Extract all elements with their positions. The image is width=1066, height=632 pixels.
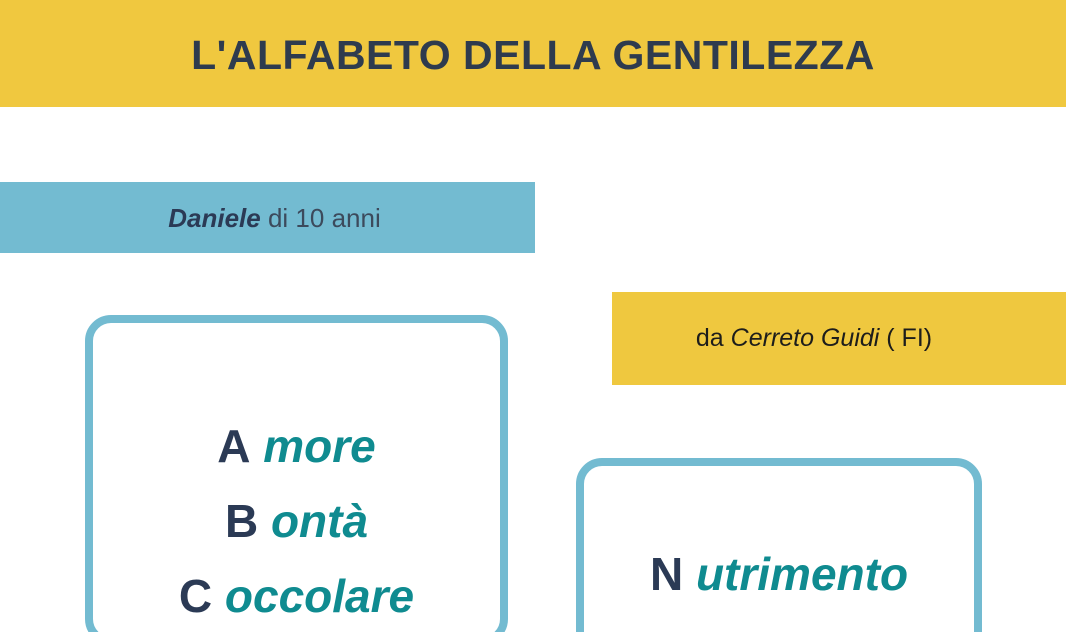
place-text: da Cerreto Guidi ( FI): [696, 326, 982, 351]
place-province: ( FI): [879, 324, 932, 352]
letter-word: utrimento: [683, 548, 908, 600]
letter-list-abc: A more B ontà C occolare: [93, 409, 500, 632]
letter-word: more: [250, 420, 375, 472]
letter-entry: C occolare: [93, 559, 500, 632]
letter-card-n: N utrimento: [576, 458, 982, 632]
letter-initial: C: [179, 570, 212, 622]
place-prefix: da: [696, 324, 731, 352]
header-band: L'ALFABETO DELLA GENTILEZZA: [0, 0, 1066, 107]
author-age: di 10 anni: [261, 203, 381, 233]
letter-card-abc: A more B ontà C occolare: [85, 315, 508, 632]
place-city: Cerreto Guidi: [731, 324, 880, 352]
letter-list-n: N utrimento: [584, 538, 974, 610]
letter-entry: A more: [93, 409, 500, 484]
letter-word: ontà: [258, 495, 368, 547]
letter-initial: A: [217, 420, 250, 472]
letter-entry: B ontà: [93, 484, 500, 559]
place-band: da Cerreto Guidi ( FI): [612, 292, 1066, 385]
author-name: Daniele: [168, 203, 261, 233]
letter-word: occolare: [212, 570, 414, 622]
letter-initial: N: [650, 548, 683, 600]
poster-page: L'ALFABETO DELLA GENTILEZZA Daniele di 1…: [0, 0, 1066, 632]
author-text: Daniele di 10 anni: [154, 205, 380, 231]
letter-initial: B: [225, 495, 258, 547]
letter-entry: N utrimento: [584, 538, 974, 610]
author-band: Daniele di 10 anni: [0, 182, 535, 253]
page-title: L'ALFABETO DELLA GENTILEZZA: [191, 35, 875, 76]
